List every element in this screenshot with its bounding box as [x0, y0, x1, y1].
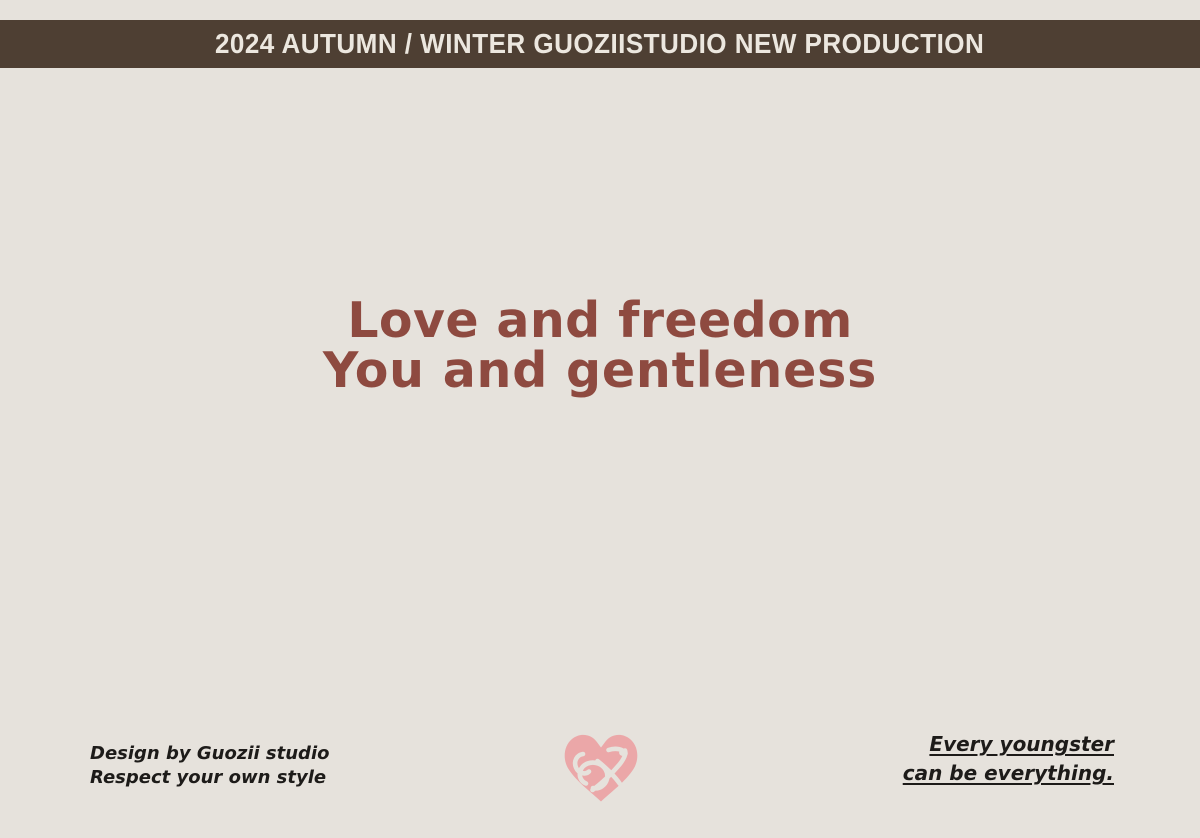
credit-line-designer: Design by Guozii studio	[90, 742, 329, 766]
slogan-block: Every youngster can be everything.	[903, 730, 1114, 788]
heart-ribbon-logo-icon	[562, 727, 640, 803]
slogan-line-2: can be everything.	[903, 759, 1114, 788]
header-title: 2024 AUTUMN / WINTER GUOZIISTUDIO NEW PR…	[215, 30, 984, 58]
header-band: 2024 AUTUMN / WINTER GUOZIISTUDIO NEW PR…	[0, 20, 1200, 68]
credit-line-tagline: Respect your own style	[90, 766, 329, 790]
credit-block: Design by Guozii studio Respect your own…	[90, 742, 329, 790]
slogan-line-1: Every youngster	[903, 730, 1114, 759]
headline-line-2: You and gentleness	[0, 346, 1200, 396]
headline-line-1: Love and freedom	[0, 296, 1200, 346]
headline-block: Love and freedom You and gentleness	[0, 296, 1200, 397]
poster-canvas: 2024 AUTUMN / WINTER GUOZIISTUDIO NEW PR…	[0, 0, 1200, 838]
